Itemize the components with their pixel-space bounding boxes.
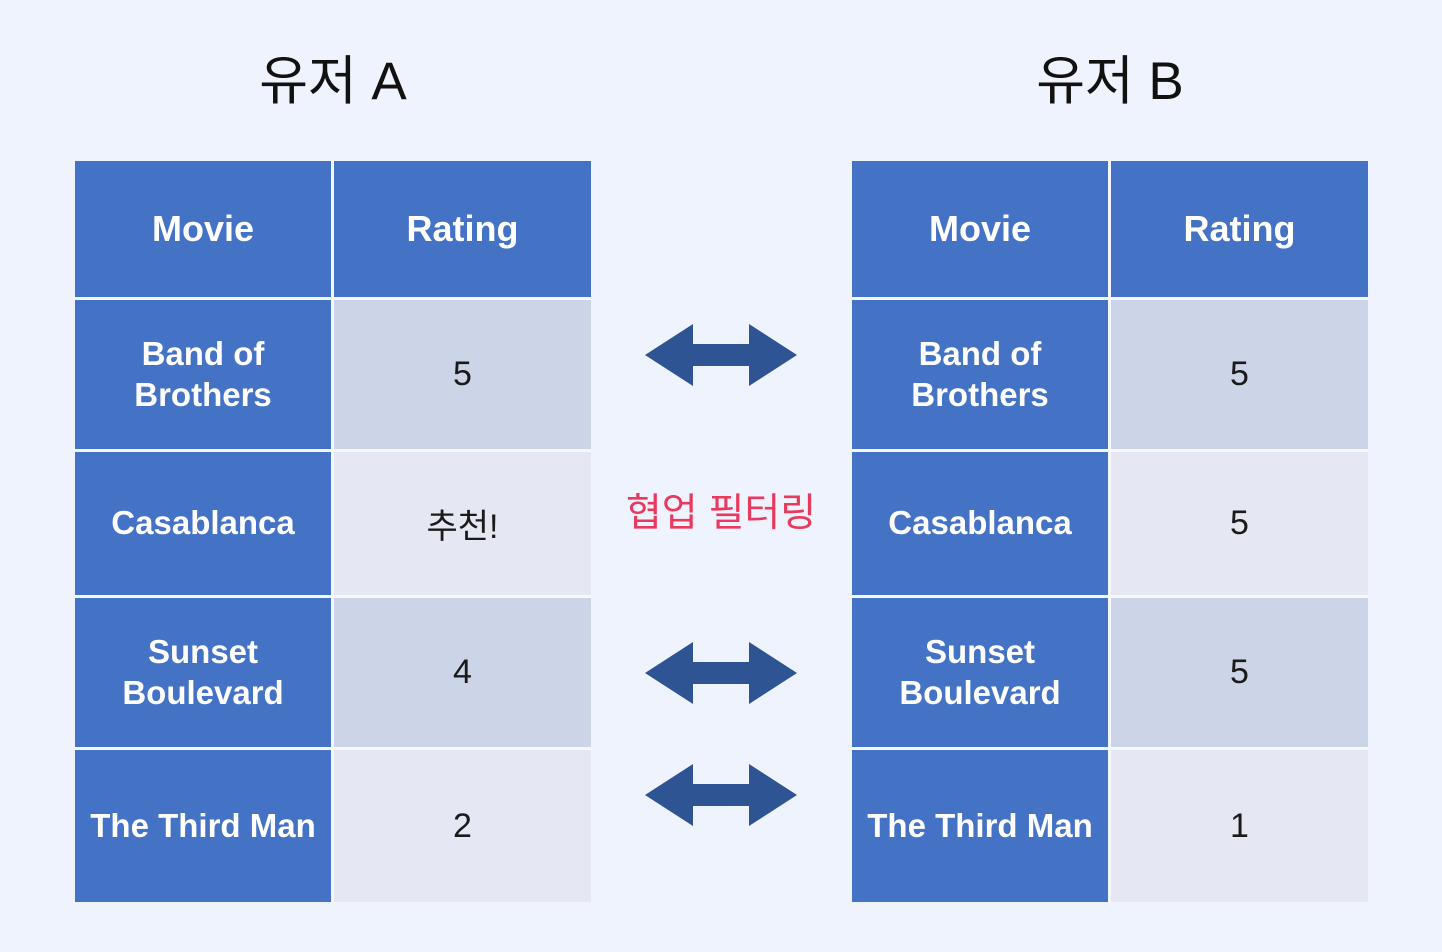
column-header-rating: Rating: [334, 161, 591, 300]
movie-name-cell: The Third Man: [852, 750, 1111, 902]
rating-value-cell: 5: [334, 300, 591, 452]
table-row: Band of Brothers 5: [852, 300, 1368, 452]
movie-name-cell: Casablanca: [75, 452, 334, 598]
movie-name-cell: Band of Brothers: [852, 300, 1111, 452]
ratings-table-user-b: Movie Rating Band of Brothers 5 Casablan…: [852, 161, 1368, 902]
double-arrow-horizontal-icon: [645, 636, 797, 710]
table-row: The Third Man 2: [75, 750, 591, 902]
table-header-row: Movie Rating: [852, 161, 1368, 300]
column-header-rating: Rating: [1111, 161, 1368, 300]
rating-value-cell: 5: [1111, 452, 1368, 598]
column-header-movie: Movie: [75, 161, 334, 300]
rating-value-cell: 5: [1111, 598, 1368, 750]
rating-value-cell: 2: [334, 750, 591, 902]
rating-value-cell: 5: [1111, 300, 1368, 452]
ratings-table-user-a: Movie Rating Band of Brothers 5 Casablan…: [75, 161, 591, 902]
table-row: The Third Man 1: [852, 750, 1368, 902]
movie-name-cell: Band of Brothers: [75, 300, 334, 452]
movie-name-cell: The Third Man: [75, 750, 334, 902]
column-header-movie: Movie: [852, 161, 1111, 300]
movie-name-cell: Sunset Boulevard: [852, 598, 1111, 750]
collaborative-filtering-label: 협업 필터링: [592, 493, 850, 536]
rating-value-cell: 4: [334, 598, 591, 750]
double-arrow-horizontal-icon: [645, 318, 797, 392]
table-row: Casablanca 추천!: [75, 452, 591, 598]
table-header-row: Movie Rating: [75, 161, 591, 300]
table-row: Band of Brothers 5: [75, 300, 591, 452]
double-arrow-horizontal-icon: [645, 758, 797, 832]
rating-value-cell: 1: [1111, 750, 1368, 902]
diagram-canvas: 유저 A Movie Rating Band of Brothers 5 Cas…: [0, 0, 1442, 952]
table-row: Sunset Boulevard 5: [852, 598, 1368, 750]
panel-title-user-a: 유저 A: [75, 55, 591, 108]
rating-recommendation-cell: 추천!: [334, 452, 591, 598]
panel-title-user-b: 유저 B: [852, 55, 1368, 108]
table-row: Casablanca 5: [852, 452, 1368, 598]
movie-name-cell: Sunset Boulevard: [75, 598, 334, 750]
table-row: Sunset Boulevard 4: [75, 598, 591, 750]
movie-name-cell: Casablanca: [852, 452, 1111, 598]
